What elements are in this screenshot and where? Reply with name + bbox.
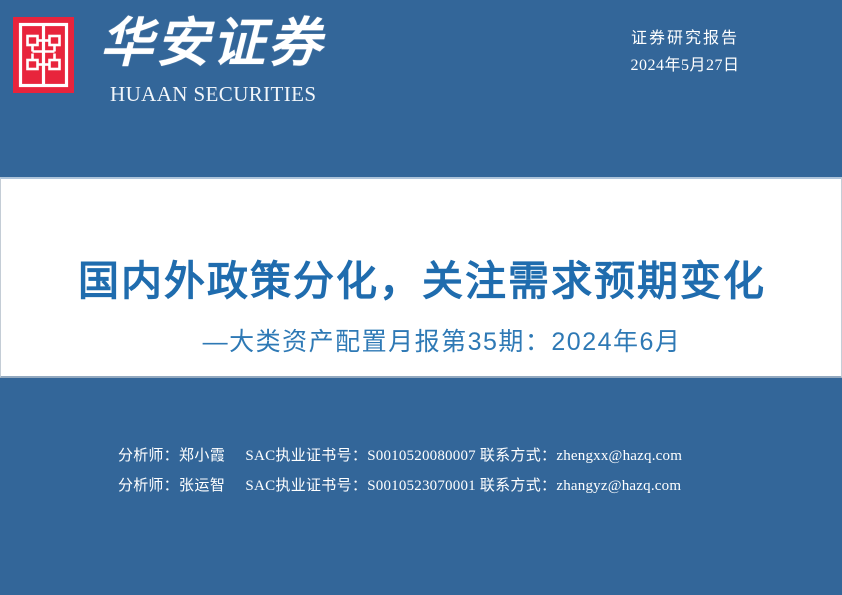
analyst-name: 张运智 [179, 478, 226, 494]
page-subtitle: —大类资产配置月报第35期：2024年6月 [1, 326, 842, 358]
sac-code: S0010523070001 [367, 478, 476, 494]
brand-name-en: HUAAN SECURITIES [110, 82, 370, 107]
sac-label: SAC执业证书号： [245, 478, 367, 494]
report-cover-page: 华安证券 HUAAN SECURITIES 证券研究报告 2024年5月27日 … [0, 0, 842, 595]
analyst-list: 分析师：郑小霞SAC执业证书号：S0010520080007 联系方式：zhen… [118, 441, 778, 501]
analyst-row: 分析师：张运智SAC执业证书号：S0010523070001 联系方式：zhan… [118, 471, 778, 501]
header-meta: 证券研究报告 2024年5月27日 [570, 26, 800, 80]
sac-code: S0010520080007 [367, 448, 476, 464]
sac-label: SAC执业证书号： [245, 448, 367, 464]
contact-label: 联系方式： [480, 478, 557, 494]
cover-header: 华安证券 HUAAN SECURITIES 证券研究报告 2024年5月27日 [0, 0, 842, 177]
analyst-role-label: 分析师： [118, 478, 179, 494]
huaan-seal-logo-icon [13, 17, 74, 93]
page-title: 国内外政策分化，关注需求预期变化 [1, 257, 842, 305]
report-date: 2024年5月27日 [570, 52, 800, 80]
analyst-email[interactable]: zhengxx@hazq.com [556, 448, 682, 464]
analyst-name: 郑小霞 [179, 448, 226, 464]
analyst-role-label: 分析师： [118, 448, 179, 464]
report-kind-label: 证券研究报告 [570, 26, 800, 52]
cover-title-band: 国内外政策分化，关注需求预期变化 —大类资产配置月报第35期：2024年6月 [0, 177, 842, 378]
analyst-row: 分析师：郑小霞SAC执业证书号：S0010520080007 联系方式：zhen… [118, 441, 778, 471]
contact-label: 联系方式： [480, 448, 557, 464]
brand-name-cn: 华安证券 [100, 11, 350, 79]
analyst-email[interactable]: zhangyz@hazq.com [556, 478, 681, 494]
